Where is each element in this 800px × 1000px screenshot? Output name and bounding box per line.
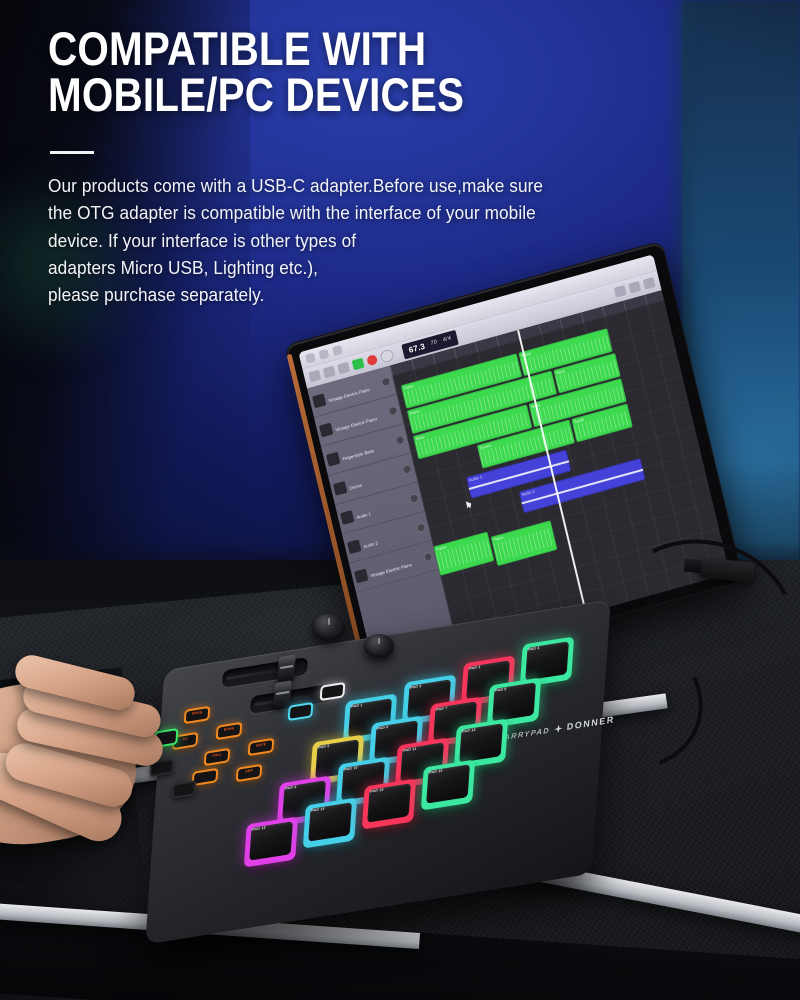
headline-line-2: MOBILE/PC DEVICES xyxy=(48,72,598,118)
btn-arp[interactable]: ARP xyxy=(236,764,263,782)
instrument-icon xyxy=(319,422,333,437)
forward-icon[interactable] xyxy=(323,366,336,379)
pad-button[interactable]: PAD 14 xyxy=(303,797,357,848)
track-name: Vintage Electric Piano xyxy=(335,416,377,432)
product-marketing-image: COMPATIBLE WITH MOBILE/PC DEVICES Our pr… xyxy=(0,0,800,1000)
button-cap xyxy=(290,704,312,719)
track-pan-knob[interactable] xyxy=(388,405,399,416)
instrument-icon xyxy=(354,568,368,583)
bpm-secondary: 70 xyxy=(430,339,438,347)
btn-oct[interactable] xyxy=(320,682,346,701)
pad-button[interactable]: PAD 16 xyxy=(421,759,475,810)
body-line-2: the OTG adapter is compatible with the i… xyxy=(48,199,643,226)
marketing-copy: COMPATIBLE WITH MOBILE/PC DEVICES Our pr… xyxy=(48,26,688,308)
button-cap xyxy=(322,684,344,699)
instrument-icon xyxy=(312,393,326,408)
pad-button[interactable]: PAD 15 xyxy=(362,778,416,829)
body-copy: Our products come with a USB-C adapter.B… xyxy=(48,172,643,308)
body-line-4: adapters Micro USB, Lighting etc.), xyxy=(48,254,643,281)
stop-icon[interactable] xyxy=(379,348,394,363)
track-name: Drums xyxy=(349,482,363,490)
track-name: Vintage Electric Piano xyxy=(370,562,412,578)
instrument-icon xyxy=(340,510,354,525)
pad-button[interactable]: PAD 13 xyxy=(244,816,298,867)
bpm-value: 67.3 xyxy=(408,341,426,354)
track-pan-knob[interactable] xyxy=(423,551,434,562)
btn-note[interactable]: NOTE xyxy=(248,738,275,756)
window-dot-icon[interactable] xyxy=(305,352,316,363)
record-icon[interactable] xyxy=(366,354,378,366)
fader-2-cap[interactable] xyxy=(273,680,292,708)
track-name: Audio 2 xyxy=(363,540,379,549)
metronome-icon[interactable] xyxy=(337,362,350,375)
fader-1-cap[interactable] xyxy=(277,654,296,682)
play-icon[interactable] xyxy=(352,358,365,371)
track-name: Vintage Electric Piano xyxy=(328,386,370,402)
donner-logo-icon xyxy=(554,723,564,734)
track-pan-knob[interactable] xyxy=(381,376,392,387)
page-title: COMPATIBLE WITH MOBILE/PC DEVICES xyxy=(48,26,598,117)
rewind-icon[interactable] xyxy=(308,370,321,383)
timeline-clip[interactable]: Piano xyxy=(491,520,558,566)
body-line-1: Our products come with a USB-C adapter.B… xyxy=(48,172,643,199)
window-dot-icon[interactable] xyxy=(319,349,330,360)
track-name: Audio 1 xyxy=(356,511,372,520)
track-pan-knob[interactable] xyxy=(402,464,413,475)
user-hand xyxy=(0,648,224,863)
window-dot-icon[interactable] xyxy=(332,345,343,356)
instrument-icon xyxy=(347,539,361,554)
track-pan-knob[interactable] xyxy=(409,493,420,504)
knob-b[interactable] xyxy=(364,634,394,658)
divider-rule xyxy=(50,151,94,154)
instrument-icon xyxy=(326,451,340,466)
track-pan-knob[interactable] xyxy=(395,435,406,446)
instrument-icon xyxy=(333,480,347,495)
body-line-5: please purchase separately. xyxy=(48,281,643,308)
knob-a[interactable] xyxy=(312,614,345,640)
timeline-clip[interactable]: Piano xyxy=(433,532,494,576)
track-pan-knob[interactable] xyxy=(416,522,427,533)
track-name: Fingerstyle Bass xyxy=(342,448,374,462)
btn-sustain[interactable] xyxy=(288,702,314,721)
time-signature: 4/4 xyxy=(442,335,452,343)
brand-name: DONNER xyxy=(567,714,616,732)
body-line-3: device. If your interface is other types… xyxy=(48,227,643,254)
